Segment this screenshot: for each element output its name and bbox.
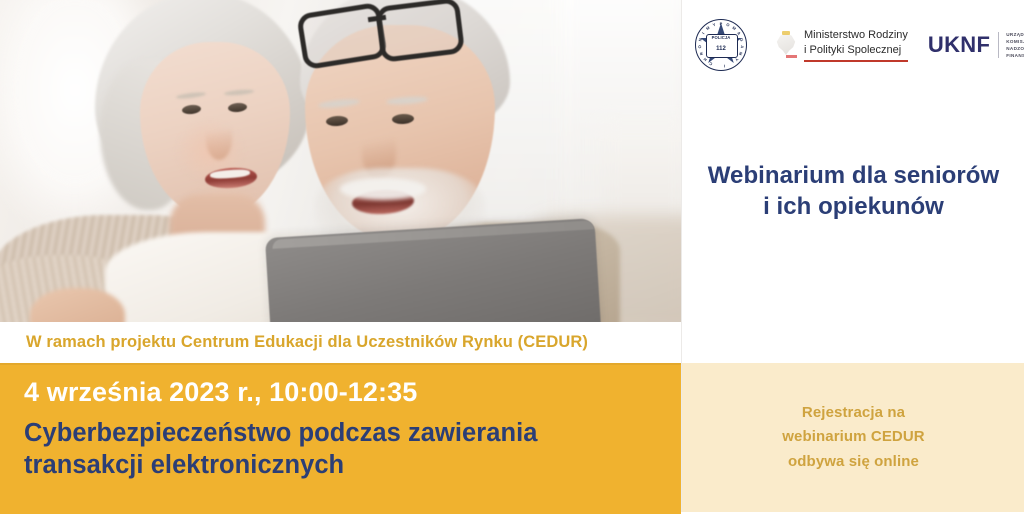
uknf-logo: UKNF URZĄD KOMISJI NADZORU FINANSOWEGO [928, 31, 1024, 59]
uknf-subtitle-line-4: FINANSOWEGO [1006, 52, 1024, 59]
uknf-subtitle-line-2: KOMISJI [1006, 38, 1024, 45]
registration-block: Rejestracja na webinarium CEDUR odbywa s… [682, 363, 1024, 512]
cedur-project-text: W ramach projektu Centrum Edukacji dla U… [26, 333, 588, 352]
left-column: W ramach projektu Centrum Edukacji dla U… [0, 0, 681, 512]
registration-line-3: odbywa się online [782, 450, 924, 474]
registration-line-2: webinarium CEDUR [782, 425, 924, 449]
uknf-divider [998, 32, 999, 58]
cedur-project-band: W ramach projektu Centrum Edukacji dla U… [0, 322, 681, 363]
man-glasses-lens-right [375, 0, 465, 63]
ministry-wordmark: Ministerstwo Rodziny i Polityki Spoleczn… [804, 28, 908, 62]
event-title: Cyberbezpieczeństwo podczas zawierania t… [24, 417, 654, 481]
uknf-subtitle: URZĄD KOMISJI NADZORU FINANSOWEGO [1006, 31, 1024, 59]
uknf-subtitle-line-3: NADZORU [1006, 45, 1024, 52]
ministry-line-2: i Polityki Spolecznej [804, 43, 908, 58]
headline-line-1: Webinarium dla seniorów [682, 160, 1024, 191]
ministry-line-1: Ministerstwo Rodziny [804, 28, 908, 43]
event-date-time: 4 września 2023 r., 10:00-12:35 [24, 377, 417, 408]
registration-line-1: Rejestracja na [782, 401, 924, 425]
badge-motto-ring: POMAGAMY I CHRONIMY [695, 19, 747, 71]
event-title-line-1: Cyberbezpieczeństwo podczas zawierania [24, 417, 654, 449]
woman-nose [206, 118, 232, 160]
hero-photo-seniors-with-tablet [0, 0, 681, 322]
polish-eagle-icon [773, 30, 799, 60]
policja-badge-icon: POLICJA 112 POMAGAMY I CHRONIMY [695, 19, 747, 71]
logo-strip: POLICJA 112 POMAGAMY I CHRONIMY Minister… [682, 0, 1024, 90]
webinar-poster: W ramach projektu Centrum Edukacji dla U… [0, 0, 1024, 512]
ministry-red-rule [804, 60, 908, 62]
event-title-line-2: transakcji elektronicznych [24, 449, 654, 481]
uknf-acronym: UKNF [928, 32, 990, 58]
ministerstwo-rodziny-logo: Ministerstwo Rodziny i Polityki Spoleczn… [773, 28, 908, 62]
headline-line-2: i ich opiekunów [682, 191, 1024, 222]
registration-text: Rejestracja na webinarium CEDUR odbywa s… [782, 401, 924, 474]
eagle-flag-base [775, 55, 797, 58]
uknf-subtitle-line-1: URZĄD [1006, 31, 1024, 38]
event-details-block: 4 września 2023 r., 10:00-12:35 Cyberbez… [0, 363, 681, 514]
eagle-body-shape [776, 33, 796, 55]
man-moustache [340, 178, 426, 200]
webinar-headline: Webinarium dla seniorów i ich opiekunów [682, 160, 1024, 222]
right-column: POLICJA 112 POMAGAMY I CHRONIMY Minister… [681, 0, 1024, 512]
eagle-crown-shape [782, 31, 790, 35]
